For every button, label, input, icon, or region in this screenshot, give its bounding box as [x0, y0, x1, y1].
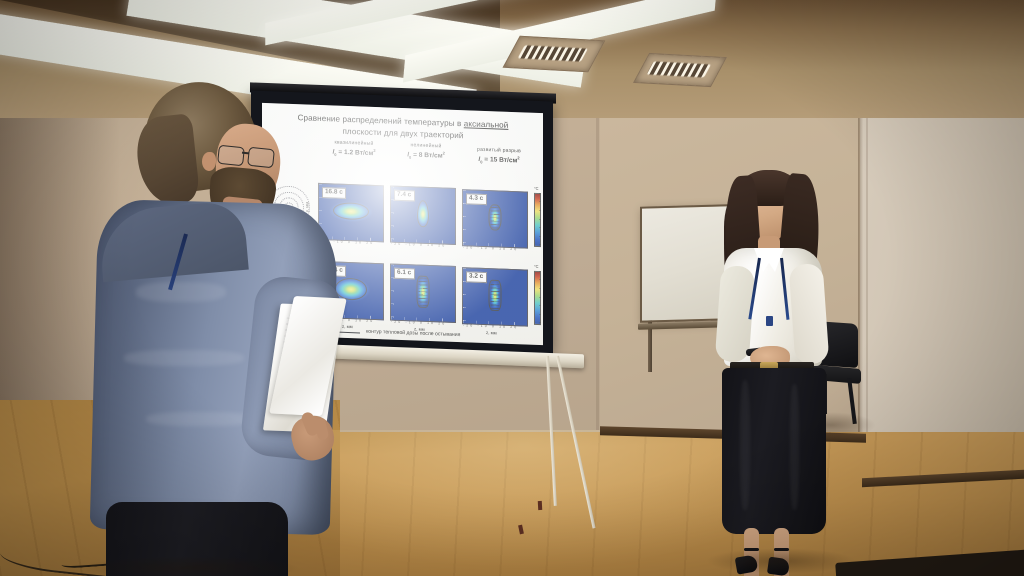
- slide-title-underlined-word: аксиальной: [464, 119, 509, 130]
- time-label-r1c3: 4.3 c: [466, 193, 487, 205]
- time-label-r1c2: 7.4 c: [394, 189, 415, 201]
- skirt-fold: [790, 384, 799, 510]
- light-grille-icon: [517, 45, 588, 62]
- hair-side: [134, 113, 201, 207]
- column-header-3: развитый разрыв I0 = 15 Вт/см2: [462, 146, 536, 166]
- heatmap-panel-r2c3: 3.2 c: [462, 267, 528, 326]
- x-axis-label-c3: z, мм: [486, 330, 497, 335]
- column-header-2: нелинейный I0 = 8 Вт/см2: [390, 142, 462, 162]
- presenter-right: [700, 170, 860, 576]
- skirt-fold: [740, 380, 750, 510]
- presenter-right-shadow: [706, 548, 856, 574]
- light-grille-icon: [647, 62, 711, 77]
- thermal-dose-contour: [417, 200, 429, 227]
- shirt-fold: [146, 412, 256, 426]
- x-tick-labels-r2c3: -20 -10 0 10 20: [463, 323, 518, 329]
- glasses-lens-right: [247, 147, 275, 169]
- heatmap-panel-r1c3: 4.3 c: [462, 189, 528, 248]
- ear: [202, 152, 216, 171]
- shirt-fold: [124, 350, 244, 366]
- intensity-label-3: I0 = 15 Вт/см2: [462, 153, 536, 166]
- heatmap-panel-r2c2: 6.1 c: [390, 264, 456, 323]
- glasses-lens-left: [217, 145, 245, 167]
- x-tick-labels-r2c2: -20 -10 0 10 20: [391, 320, 446, 326]
- intensity-label-2: I0 = 8 Вт/см2: [390, 149, 462, 162]
- presenter-left: [76, 82, 366, 576]
- conference-badge: [766, 316, 773, 326]
- presentation-photo-scene: Сравнение распределений температуры в ак…: [0, 0, 1024, 576]
- thermal-dose-contour: [417, 276, 430, 308]
- ceiling-light-fixture-2: [633, 53, 727, 87]
- thermal-dose-contour: [489, 280, 502, 311]
- colorbar-ticks-row2: [539, 271, 541, 323]
- colorbar-ticks-row1: [539, 193, 541, 245]
- black-skirt: [722, 368, 826, 534]
- colorbar-unit-row1: °C: [534, 186, 539, 191]
- x-tick-labels-r1c2: -20 -10 0 10 20: [391, 242, 446, 248]
- thermal-dose-contour: [489, 205, 502, 231]
- legend-caption: контур тепловой дозы после остывания: [366, 329, 460, 338]
- presenter-left-shadow: [80, 556, 300, 576]
- arm-right: [789, 263, 830, 365]
- heatmap-panel-r1c2: 7.4 c: [390, 186, 456, 245]
- ceiling-light-fixture-1: [503, 36, 606, 73]
- colorbar-unit-row2: °C: [534, 264, 539, 269]
- time-label-r2c3: 3.2 c: [466, 271, 487, 283]
- tripod-foot-1: [538, 501, 542, 510]
- x-tick-labels-r1c3: -20 -10 0 10 20: [463, 245, 518, 251]
- time-label-r2c2: 6.1 c: [394, 267, 415, 279]
- shirt-fold: [136, 282, 226, 302]
